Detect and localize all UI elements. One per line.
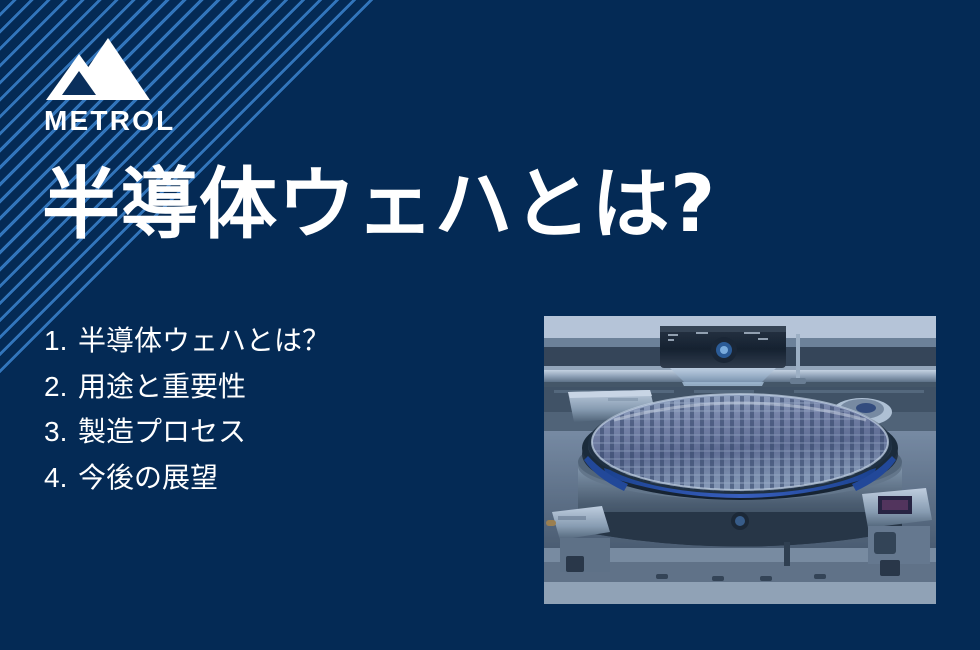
agenda-list: 1. 半導体ウェハとは？ 2. 用途と重要性 3. 製造プロセス 4. 今後の展… bbox=[44, 318, 330, 501]
list-item-label: 製造プロセス bbox=[78, 409, 246, 455]
list-item-label: 半導体ウェハとは？ bbox=[78, 318, 330, 364]
list-item-number: 4. bbox=[44, 455, 78, 501]
list-item: 1. 半導体ウェハとは？ bbox=[44, 318, 330, 364]
list-item-number: 3. bbox=[44, 409, 78, 455]
metrol-mountain-logo-icon bbox=[46, 38, 156, 100]
list-item-label: 今後の展望 bbox=[78, 455, 218, 501]
brand-wordmark: METROL bbox=[44, 107, 186, 135]
list-item: 2. 用途と重要性 bbox=[44, 364, 330, 410]
list-item: 3. 製造プロセス bbox=[44, 409, 330, 455]
list-item: 4. 今後の展望 bbox=[44, 455, 330, 501]
slide-canvas: METROL 半導体ウェハとは? 1. 半導体ウェハとは？ 2. 用途と重要性 … bbox=[0, 0, 980, 650]
list-item-number: 2. bbox=[44, 364, 78, 410]
list-item-number: 1. bbox=[44, 318, 78, 364]
brand-logo: METROL bbox=[46, 38, 186, 135]
list-item-label: 用途と重要性 bbox=[78, 364, 246, 410]
page-title: 半導体ウェハとは? bbox=[42, 163, 716, 247]
semiconductor-wafer-photo bbox=[544, 316, 936, 604]
